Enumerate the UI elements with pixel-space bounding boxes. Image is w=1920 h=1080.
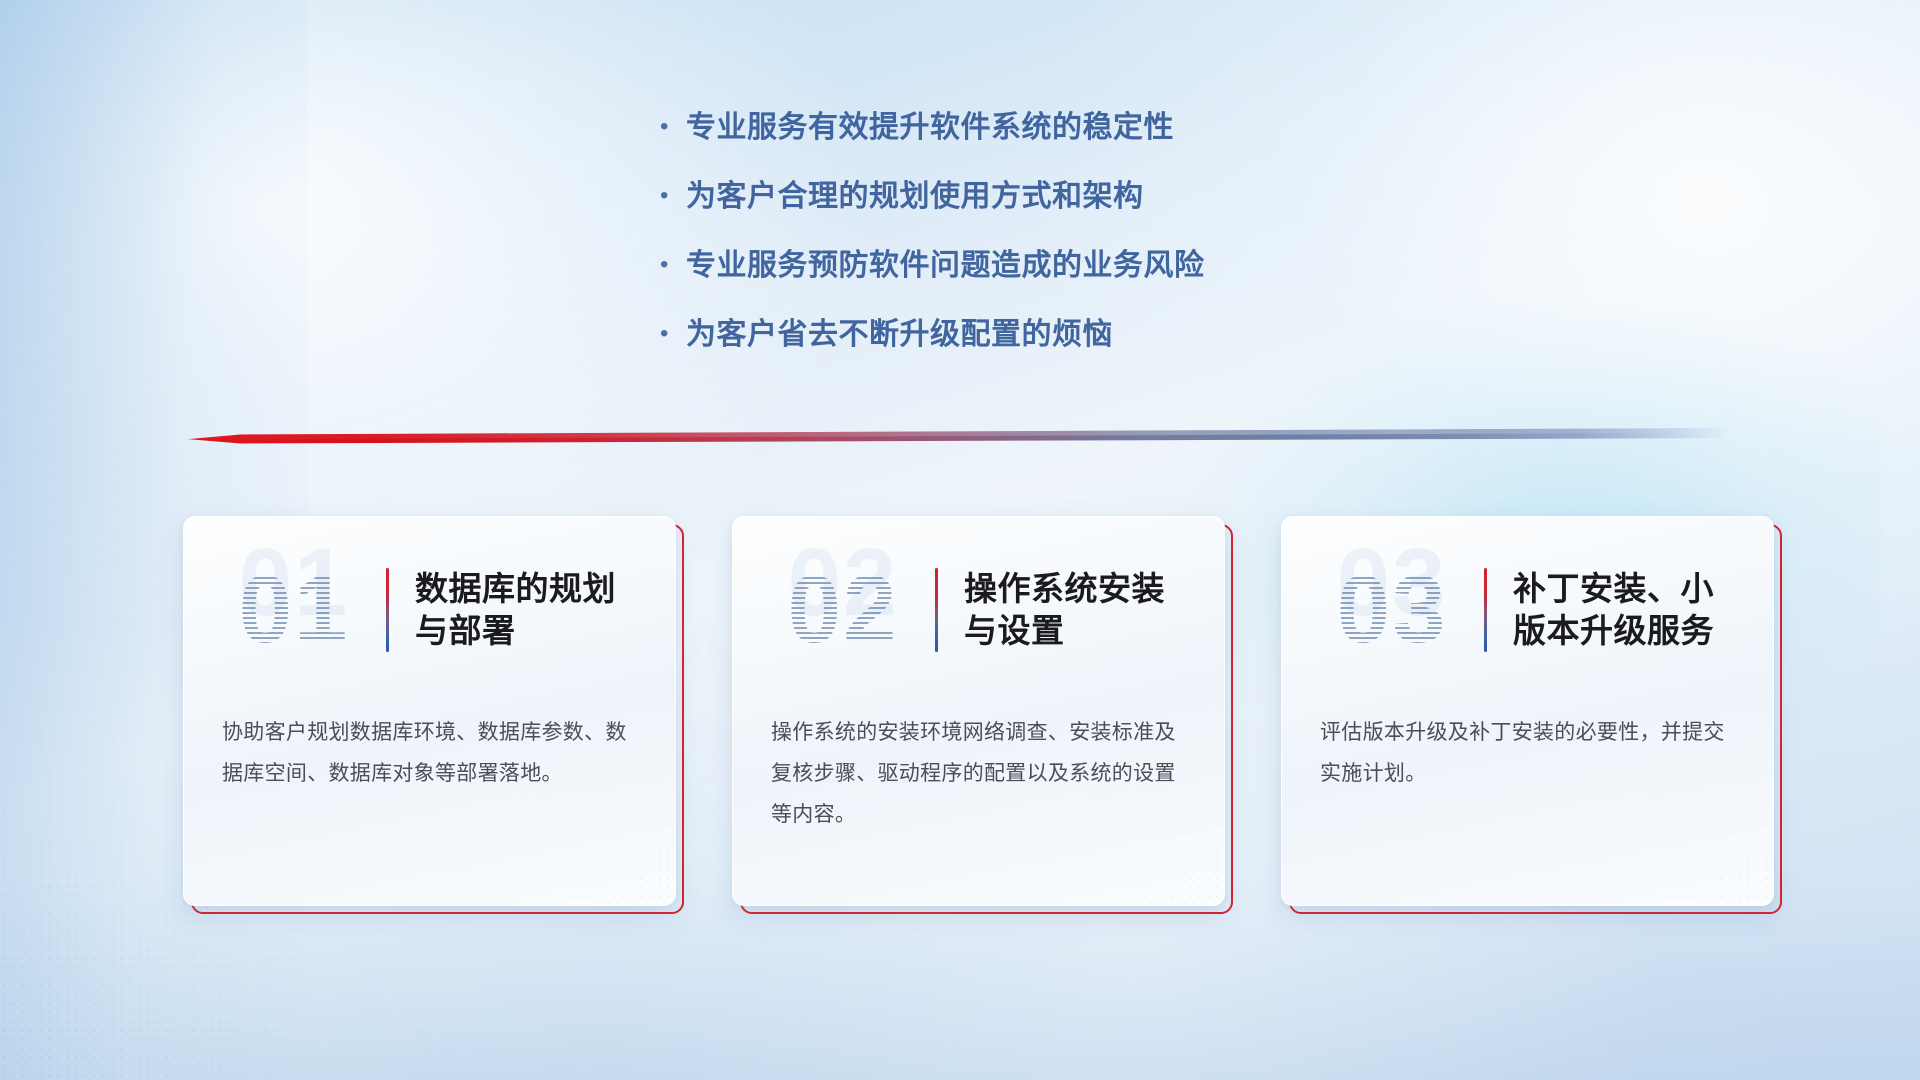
card-header: 01 01 数据库的规划 与部署 xyxy=(184,535,675,685)
card-accent-bar xyxy=(1484,568,1487,652)
service-card-03[interactable]: 03 03 补丁安装、小 版本升级服务 评估版本升级及补丁安装的必要性，并提交实… xyxy=(1281,516,1774,906)
bullet-dot-icon: • xyxy=(660,253,686,277)
list-item: • 为客户合理的规划使用方式和架构 xyxy=(660,179,1205,215)
card-header: 03 03 补丁安装、小 版本升级服务 xyxy=(1282,535,1773,685)
bullet-label: 为客户省去不断升级配置的烦恼 xyxy=(686,317,1113,353)
card-title: 补丁安装、小 版本升级服务 xyxy=(1513,568,1714,652)
card-accent-bar xyxy=(386,568,389,652)
list-item: • 为客户省去不断升级配置的烦恼 xyxy=(660,317,1205,353)
card-surface: 02 02 操作系统安装 与设置 操作系统的安装环境网络调查、安装标准及复核步骤… xyxy=(732,516,1225,906)
bullet-dot-icon: • xyxy=(660,184,686,208)
card-number: 03 xyxy=(1304,562,1480,658)
card-body-text: 协助客户规划数据库环境、数据库参数、数据库空间、数据库对象等部署落地。 xyxy=(222,713,641,795)
card-body-text: 评估版本升级及补丁安装的必要性，并提交实施计划。 xyxy=(1320,713,1739,795)
bullet-label: 专业服务有效提升软件系统的稳定性 xyxy=(686,110,1174,146)
service-card-group: 01 01 数据库的规划 与部署 协助客户规划数据库环境、数据库参数、数据库空间… xyxy=(183,516,1774,906)
slide-content: • 专业服务有效提升软件系统的稳定性 • 为客户合理的规划使用方式和架构 • 专… xyxy=(0,0,1920,1080)
bullet-label: 专业服务预防软件问题造成的业务风险 xyxy=(686,248,1205,284)
service-card-02[interactable]: 02 02 操作系统安装 与设置 操作系统的安装环境网络调查、安装标准及复核步骤… xyxy=(732,516,1225,906)
bullet-dot-icon: • xyxy=(660,322,686,346)
card-accent-bar xyxy=(935,568,938,652)
card-number: 02 xyxy=(755,562,931,658)
bullet-dot-icon: • xyxy=(660,115,686,139)
card-title: 数据库的规划 与部署 xyxy=(415,568,616,652)
list-item: • 专业服务预防软件问题造成的业务风险 xyxy=(660,248,1205,284)
section-divider xyxy=(188,428,1730,446)
card-surface: 03 03 补丁安装、小 版本升级服务 评估版本升级及补丁安装的必要性，并提交实… xyxy=(1281,516,1774,906)
card-body-text: 操作系统的安装环境网络调查、安装标准及复核步骤、驱动程序的配置以及系统的设置等内… xyxy=(771,713,1190,836)
list-item: • 专业服务有效提升软件系统的稳定性 xyxy=(660,110,1205,146)
benefits-bullet-list: • 专业服务有效提升软件系统的稳定性 • 为客户合理的规划使用方式和架构 • 专… xyxy=(660,110,1205,386)
card-surface: 01 01 数据库的规划 与部署 协助客户规划数据库环境、数据库参数、数据库空间… xyxy=(183,516,676,906)
service-card-01[interactable]: 01 01 数据库的规划 与部署 协助客户规划数据库环境、数据库参数、数据库空间… xyxy=(183,516,676,906)
bullet-label: 为客户合理的规划使用方式和架构 xyxy=(686,179,1144,215)
card-header: 02 02 操作系统安装 与设置 xyxy=(733,535,1224,685)
card-title: 操作系统安装 与设置 xyxy=(964,568,1165,652)
card-number: 01 xyxy=(206,562,382,658)
